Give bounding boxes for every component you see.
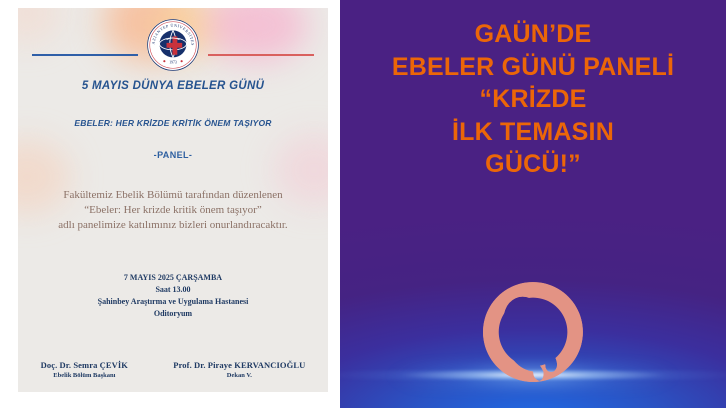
promo-line-5: GÜCÜ!” bbox=[340, 148, 726, 181]
poster-header: GAZİANTEP ÜNİVERSİTESİ 1973 bbox=[18, 30, 328, 82]
signature-left-name: Doç. Dr. Semra ÇEVİK bbox=[41, 360, 128, 370]
event-room: Oditoryum bbox=[18, 308, 328, 320]
promo-line-3: “KRİZDE bbox=[340, 83, 726, 116]
signature-left: Doç. Dr. Semra ÇEVİK Ebelik Bölüm Başkan… bbox=[41, 360, 128, 379]
promo-line-4: İLK TEMASIN bbox=[340, 116, 726, 149]
poster-pane: GAZİANTEP ÜNİVERSİTESİ 1973 5 MAYIS DÜNY… bbox=[0, 0, 340, 408]
signature-block: Doç. Dr. Semra ÇEVİK Ebelik Bölüm Başkan… bbox=[18, 360, 328, 379]
invitation-line-1: Fakültemiz Ebelik Bölümü tarafından düze… bbox=[24, 188, 322, 203]
poster-subtitle: EBELER: HER KRİZDE KRİTİK ÖNEM TAŞIYOR bbox=[18, 118, 328, 128]
header-rule-right bbox=[208, 54, 314, 56]
promo-line-1: GAÜN’DE bbox=[340, 18, 726, 51]
signature-right-name: Prof. Dr. Piraye KERVANCIOĞLU bbox=[173, 360, 305, 370]
poster-panel-label: -PANEL- bbox=[18, 150, 328, 160]
signature-left-role: Ebelik Bölüm Başkanı bbox=[41, 372, 128, 379]
invitation-text: Fakültemiz Ebelik Bölümü tarafından düze… bbox=[24, 188, 322, 233]
event-invitation-poster: GAZİANTEP ÜNİVERSİTESİ 1973 5 MAYIS DÜNY… bbox=[18, 8, 328, 392]
signature-right: Prof. Dr. Piraye KERVANCIOĞLU Dekan V. bbox=[173, 360, 305, 379]
invitation-line-3: adlı panelimize katılımınız bizleri onur… bbox=[24, 218, 322, 233]
promo-pane: GAÜN’DE EBELER GÜNÜ PANELİ “KRİZDE İLK T… bbox=[340, 0, 726, 408]
invitation-line-2: “Ebeler: Her krizde kritik önem taşıyor” bbox=[24, 203, 322, 218]
event-venue: Şahinbey Araştırma ve Uygulama Hastanesi bbox=[18, 296, 328, 308]
promo-line-2: EBELER GÜNÜ PANELİ bbox=[340, 51, 726, 84]
promo-headline: GAÜN’DE EBELER GÜNÜ PANELİ “KRİZDE İLK T… bbox=[340, 18, 726, 181]
gaziantep-university-logo-icon: GAZİANTEP ÜNİVERSİTESİ 1973 bbox=[146, 18, 200, 72]
fetus-in-circle-icon bbox=[481, 280, 585, 384]
header-rule-left bbox=[32, 54, 138, 56]
event-date: 7 MAYIS 2025 ÇARŞAMBA bbox=[18, 272, 328, 284]
event-details: 7 MAYIS 2025 ÇARŞAMBA Saat 13.00 Şahinbe… bbox=[18, 272, 328, 320]
page-title: 5 MAYIS DÜNYA EBELER GÜNÜ bbox=[18, 80, 328, 92]
event-time: Saat 13.00 bbox=[18, 284, 328, 296]
svg-text:1973: 1973 bbox=[169, 60, 177, 64]
signature-right-role: Dekan V. bbox=[173, 372, 305, 379]
screenshot-root: GAZİANTEP ÜNİVERSİTESİ 1973 5 MAYIS DÜNY… bbox=[0, 0, 726, 408]
